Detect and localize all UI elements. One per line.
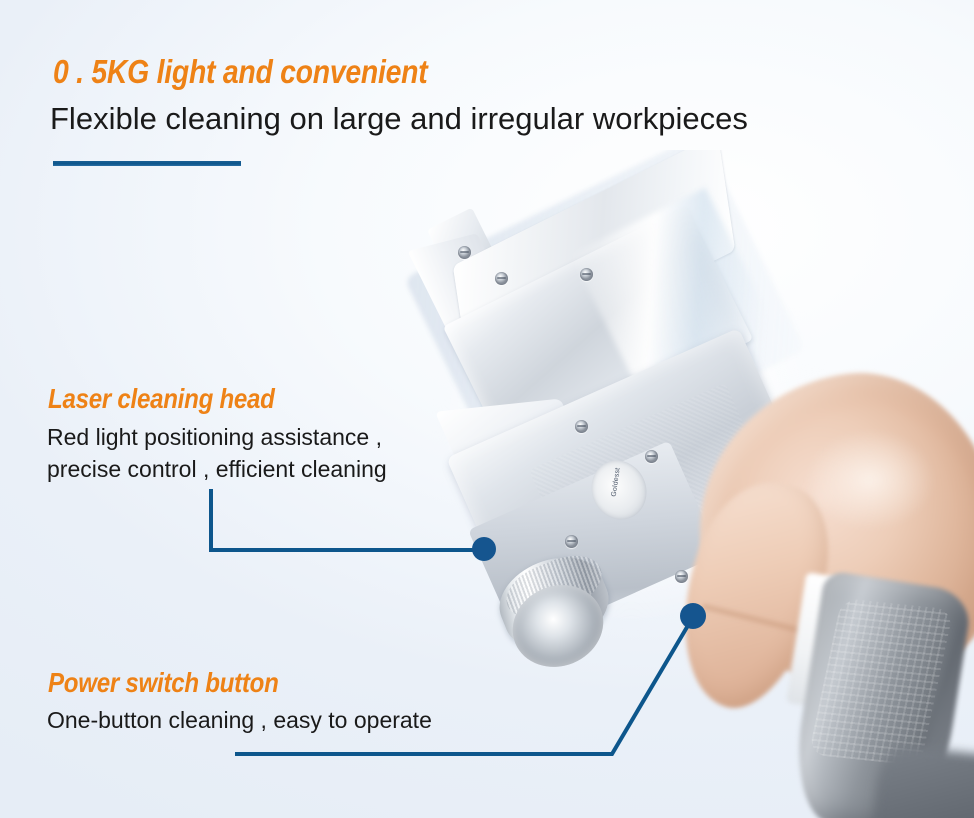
infographic-page: SUP2 Goldesst <box>0 0 974 818</box>
callout-title-power-switch: Power switch button <box>48 667 279 699</box>
sticker-text-line1: Goldesst <box>609 458 624 507</box>
barrel-screw-2 <box>495 272 508 285</box>
housing-screw-2 <box>645 450 658 463</box>
page-subtitle: Flexible cleaning on large and irregular… <box>50 101 748 137</box>
housing-screw-1 <box>575 420 588 433</box>
housing-screw-3 <box>565 535 578 548</box>
callout-text-laser-head-line1: Red light positioning assistance , <box>47 424 382 451</box>
header-underline-rule <box>53 161 241 166</box>
callout-text-power-switch-line1: One-button cleaning , easy to operate <box>47 707 432 734</box>
callout-title-laser-head: Laser cleaning head <box>48 383 275 415</box>
page-title: 0 . 5KG light and convenient <box>53 53 427 91</box>
hand-highlight <box>780 410 960 550</box>
callout-text-laser-head-line2: precise control , efficient cleaning <box>47 456 387 483</box>
product-photo: SUP2 Goldesst <box>400 150 974 818</box>
barrel-screw-1 <box>458 246 471 259</box>
housing-screw-4 <box>675 570 688 583</box>
barrel-screw-3 <box>580 268 593 281</box>
